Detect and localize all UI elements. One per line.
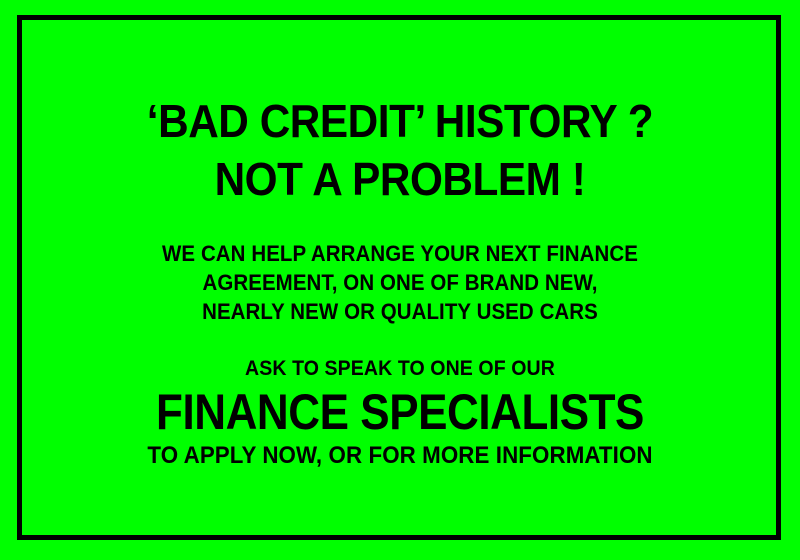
headline-line-2: NOT A PROBLEM ! [32, 156, 768, 202]
cta-follow-up-text: TO APPLY NOW, OR FOR MORE INFORMATION [28, 444, 772, 468]
cta-emphasis-text: FINANCE SPECIALISTS [48, 387, 752, 437]
cta-lead-in-text: ASK TO SPEAK TO ONE OF OUR [28, 358, 772, 379]
poster-text-content: ‘BAD CREDIT’ HISTORY ? NOT A PROBLEM ! W… [0, 0, 800, 560]
body-text-line-1: WE CAN HELP ARRANGE YOUR NEXT FINANCE [28, 243, 772, 265]
headline-line-1: ‘BAD CREDIT’ HISTORY ? [32, 98, 768, 144]
poster-canvas: ‘BAD CREDIT’ HISTORY ? NOT A PROBLEM ! W… [0, 0, 800, 560]
body-text-line-2: AGREEMENT, ON ONE OF BRAND NEW, [28, 272, 772, 294]
body-text-line-3: NEARLY NEW OR QUALITY USED CARS [28, 301, 772, 323]
